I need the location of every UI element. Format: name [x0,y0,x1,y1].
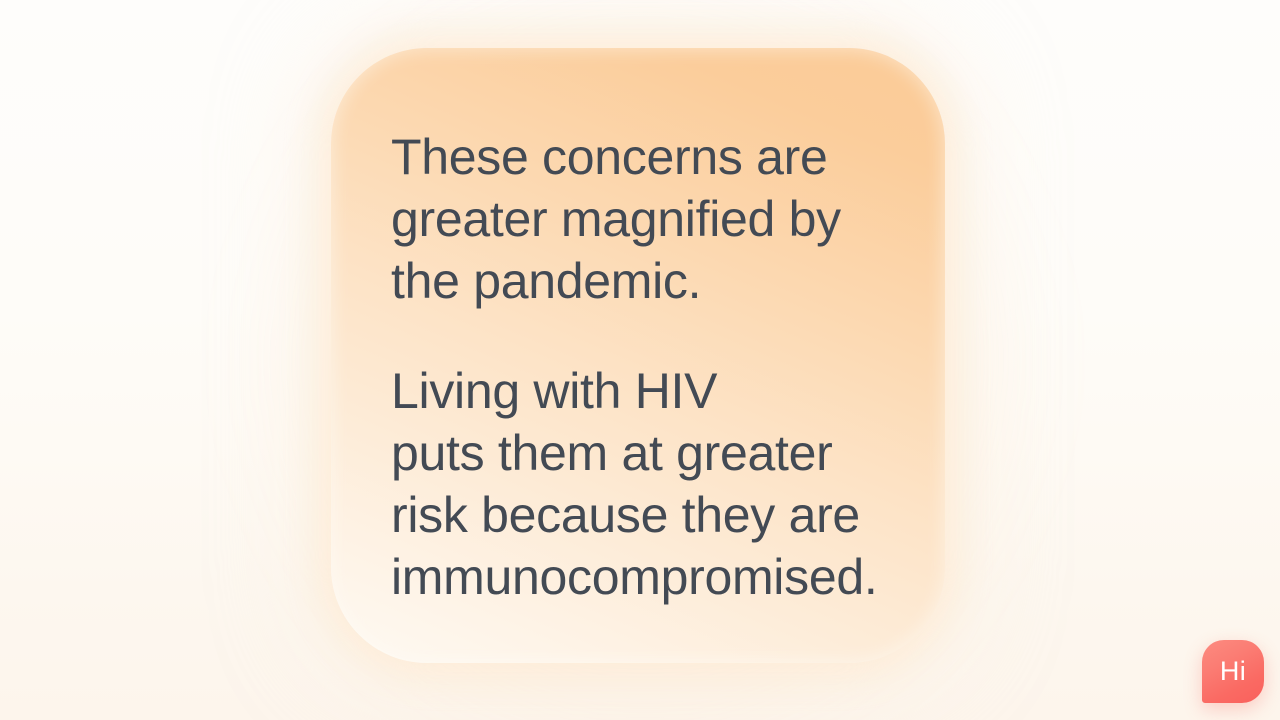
quote-paragraph-1: These concerns are greater magnified by … [391,126,925,312]
quote-card: These concerns are greater magnified by … [331,48,945,663]
quote-text-block: These concerns are greater magnified by … [391,126,925,608]
hi-chat-badge[interactable]: Hi [1202,640,1264,703]
quote-paragraph-2: Living with HIV puts them at greater ris… [391,360,925,608]
paragraph-spacer [391,312,925,360]
page-stage: These concerns are greater magnified by … [0,0,1280,720]
hi-badge-label: Hi [1220,658,1246,685]
